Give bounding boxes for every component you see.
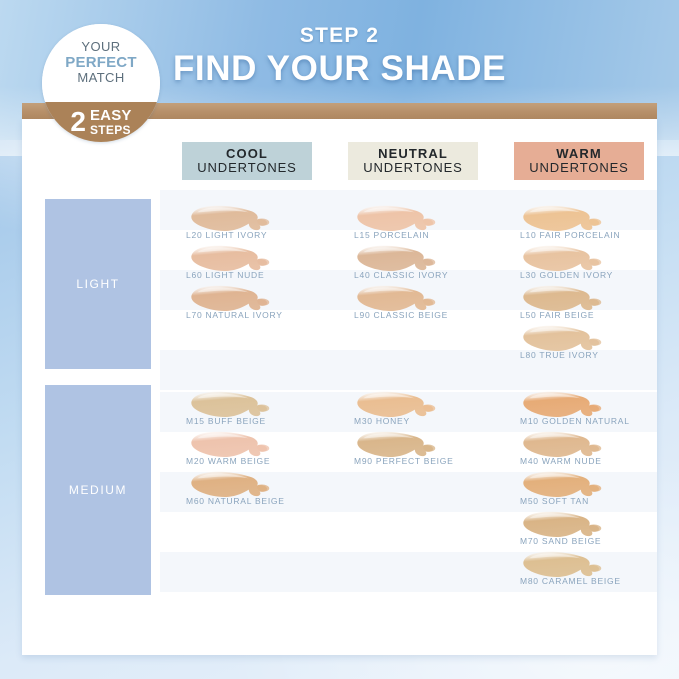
seal-number: 2 xyxy=(70,108,86,136)
shade-cell[interactable]: L20 LIGHT IVORY xyxy=(178,206,344,246)
seal-steps-group: EASY STEPS xyxy=(90,108,132,136)
shade-swatch-icon xyxy=(516,390,612,418)
shade-swatch-icon xyxy=(350,284,446,312)
shade-swatch-icon xyxy=(184,244,280,272)
shade-label: M15 BUFF BEIGE xyxy=(178,416,346,426)
seal-easy-label: EASY xyxy=(90,108,132,123)
shade-cell[interactable]: M10 GOLDEN NATURAL xyxy=(510,392,676,432)
shade-label: L40 CLASSIC IVORY xyxy=(344,270,514,280)
shade-swatch-icon xyxy=(516,470,612,498)
shade-label: M90 PERFECT BEIGE xyxy=(344,456,514,466)
shade-label: M60 NATURAL BEIGE xyxy=(178,496,346,506)
shade-label: M80 CARAMEL BEIGE xyxy=(510,576,679,586)
shade-swatch-icon xyxy=(516,430,612,458)
shade-cell[interactable]: L10 FAIR PORCELAIN xyxy=(510,206,676,246)
shade-cell[interactable]: L40 CLASSIC IVORY xyxy=(344,246,510,286)
shade-label: L15 PORCELAIN xyxy=(344,230,514,240)
shade-label: M50 SOFT TAN xyxy=(510,496,679,506)
shade-swatch-icon xyxy=(350,204,446,232)
shade-swatch-icon xyxy=(184,390,280,418)
shade-cell[interactable]: L30 GOLDEN IVORY xyxy=(510,246,676,286)
shade-swatch-icon xyxy=(516,284,612,312)
shade-label: L80 TRUE IVORY xyxy=(510,350,679,360)
shade-label: L10 FAIR PORCELAIN xyxy=(510,230,679,240)
shade-swatch-icon xyxy=(184,204,280,232)
shade-label: L50 FAIR BEIGE xyxy=(510,310,679,320)
shade-cell[interactable]: M20 WARM BEIGE xyxy=(178,432,344,472)
shade-swatch-icon xyxy=(516,510,612,538)
shade-swatch-icon xyxy=(184,430,280,458)
shade-label: M40 WARM NUDE xyxy=(510,456,679,466)
shade-cell[interactable]: L70 NATURAL IVORY xyxy=(178,286,344,326)
shade-swatch-icon xyxy=(516,550,612,578)
shade-label: M70 SAND BEIGE xyxy=(510,536,679,546)
shade-cell[interactable]: M70 SAND BEIGE xyxy=(510,512,676,552)
shade-swatch-icon xyxy=(350,390,446,418)
seal-bottom: 2 EASY STEPS xyxy=(42,102,160,142)
shade-cell[interactable]: L15 PORCELAIN xyxy=(344,206,510,246)
shade-label: M30 HONEY xyxy=(344,416,514,426)
shade-label: L20 LIGHT IVORY xyxy=(178,230,346,240)
shade-cell[interactable]: M80 CARAMEL BEIGE xyxy=(510,552,676,592)
shade-cell[interactable]: M40 WARM NUDE xyxy=(510,432,676,472)
shade-cell[interactable]: L90 CLASSIC BEIGE xyxy=(344,286,510,326)
shade-cell[interactable]: M60 NATURAL BEIGE xyxy=(178,472,344,512)
seal-line-perfect: PERFECT xyxy=(65,55,136,72)
shade-label: L60 LIGHT NUDE xyxy=(178,270,346,280)
shade-cell[interactable]: M90 PERFECT BEIGE xyxy=(344,432,510,472)
shade-cell[interactable]: L60 LIGHT NUDE xyxy=(178,246,344,286)
seal-line-match: MATCH xyxy=(77,71,124,86)
shade-swatch-icon xyxy=(350,244,446,272)
shade-swatch-icon xyxy=(184,470,280,498)
shade-cell[interactable]: L50 FAIR BEIGE xyxy=(510,286,676,326)
seal-top: YOUR PERFECT MATCH xyxy=(42,24,160,102)
shade-label: L30 GOLDEN IVORY xyxy=(510,270,679,280)
shade-label: L70 NATURAL IVORY xyxy=(178,310,346,320)
shade-cell[interactable]: L80 TRUE IVORY xyxy=(510,326,676,366)
seal-steps-label: STEPS xyxy=(90,124,132,136)
shade-swatch-icon xyxy=(350,430,446,458)
shade-swatch-icon xyxy=(516,204,612,232)
shade-swatch-icon xyxy=(516,324,612,352)
shade-cell[interactable]: M30 HONEY xyxy=(344,392,510,432)
perfect-match-seal: YOUR PERFECT MATCH 2 EASY STEPS xyxy=(42,24,160,142)
shade-cell[interactable]: M15 BUFF BEIGE xyxy=(178,392,344,432)
shade-label: M20 WARM BEIGE xyxy=(178,456,346,466)
poster-background: STEP 2 FIND YOUR SHADE YOUR PERFECT MATC… xyxy=(0,0,679,679)
shade-label: L90 CLASSIC BEIGE xyxy=(344,310,514,320)
seal-line-your: YOUR xyxy=(81,40,120,55)
shade-swatch-icon xyxy=(516,244,612,272)
shade-label: M10 GOLDEN NATURAL xyxy=(510,416,679,426)
shade-cell[interactable]: M50 SOFT TAN xyxy=(510,472,676,512)
shade-swatch-icon xyxy=(184,284,280,312)
